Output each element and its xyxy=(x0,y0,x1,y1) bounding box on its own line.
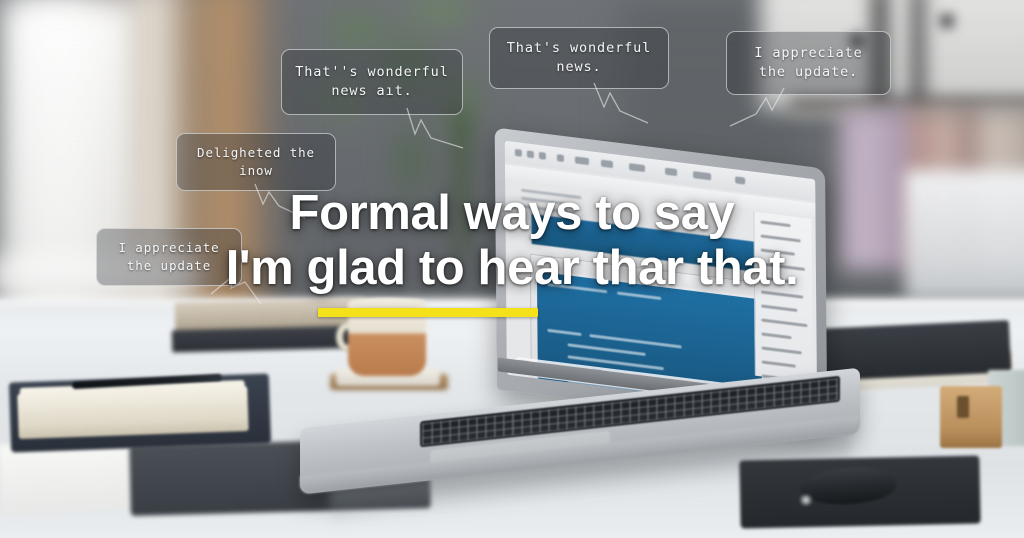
wooden-file-organizer xyxy=(940,386,1002,448)
speech-bubble-5: I appreciate the update xyxy=(96,228,242,286)
plant-stem xyxy=(452,110,470,260)
background-monitor xyxy=(905,170,1024,300)
binder-ring xyxy=(940,14,954,28)
mouse-highlight xyxy=(798,494,814,506)
screenshot-canvas: That''s wonderful news aıt. That's wonde… xyxy=(0,0,1024,538)
speech-bubble-1: That''s wonderful news aıt. xyxy=(281,49,463,115)
organizer-slot xyxy=(957,396,969,418)
headline-underline-highlight xyxy=(318,308,538,317)
speech-bubble-4: Deligheted the inow xyxy=(176,133,336,191)
screen-side-list xyxy=(753,212,812,383)
speech-bubble-3: I appreciate the update. xyxy=(726,31,891,95)
speech-bubble-2: That's wonderful news. xyxy=(489,27,669,89)
binder xyxy=(912,0,924,108)
